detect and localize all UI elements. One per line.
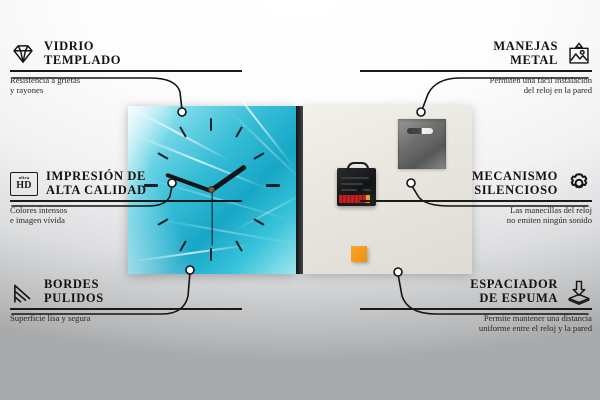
feature-impresion-alta-calidad: ultra HD Impresión de alta calidad Color… [10, 170, 242, 226]
feature-mecanismo-silencioso: Mecanismo silencioso Las manecillas del … [360, 170, 592, 226]
feature-description: Colores intensos e imagen vívida [10, 205, 242, 226]
feature-title: Vidrio templado [44, 40, 121, 67]
divider [360, 308, 592, 310]
feature-title: Manejas metal [493, 40, 558, 67]
feature-bordes-pulidos: Bordes pulidos Superficie lisa y segura [10, 278, 242, 323]
foam-spacer [351, 246, 367, 262]
ultra-hd-icon: ultra HD [10, 172, 38, 196]
divider [10, 200, 242, 202]
gear-icon [566, 171, 592, 197]
feature-description: Permiten una fácil instalación del reloj… [360, 75, 592, 96]
divider [360, 200, 592, 202]
divider [10, 308, 242, 310]
feature-espaciador-espuma: Espaciador de espuma Permite mantener un… [360, 278, 592, 334]
arrow-onto-foam-icon [566, 279, 592, 305]
hanger-slot [407, 128, 433, 134]
feature-title: Impresión de alta calidad [46, 170, 147, 197]
divider [360, 70, 592, 72]
diamond-icon [10, 41, 36, 67]
feature-vidrio-templado: Vidrio templado Resistencia a grietas y … [10, 40, 242, 96]
feature-description: Superficie lisa y segura [10, 313, 242, 324]
feature-title: Bordes pulidos [44, 278, 104, 305]
diagonal-lines-icon [10, 279, 36, 305]
clock-tick [157, 152, 168, 160]
feature-description: Resistencia a grietas y rayones [10, 75, 242, 96]
clock-tick [253, 218, 264, 226]
feature-description: Permite mantener una distancia uniforme … [360, 313, 592, 334]
clock-tick [210, 118, 212, 131]
clock-tick [253, 152, 264, 160]
clock-tick [235, 126, 243, 137]
feature-description: Las manecillas del reloj no emiten ningú… [360, 205, 592, 226]
clock-tick [266, 184, 280, 187]
feature-manejas-metal: Manejas metal Permiten una fácil instala… [360, 40, 592, 96]
clock-tick [210, 248, 212, 261]
clock-tick [179, 240, 187, 251]
infographic-canvas: Vidrio templado Resistencia a grietas y … [0, 0, 600, 400]
divider [10, 70, 242, 72]
framed-picture-icon [566, 41, 592, 67]
glass-edge [296, 106, 303, 274]
feature-title: Mecanismo silencioso [472, 170, 558, 197]
ultra-hd-icon-main: HD [16, 181, 32, 191]
feature-title: Espaciador de espuma [470, 278, 558, 305]
metal-hanger [398, 119, 446, 169]
